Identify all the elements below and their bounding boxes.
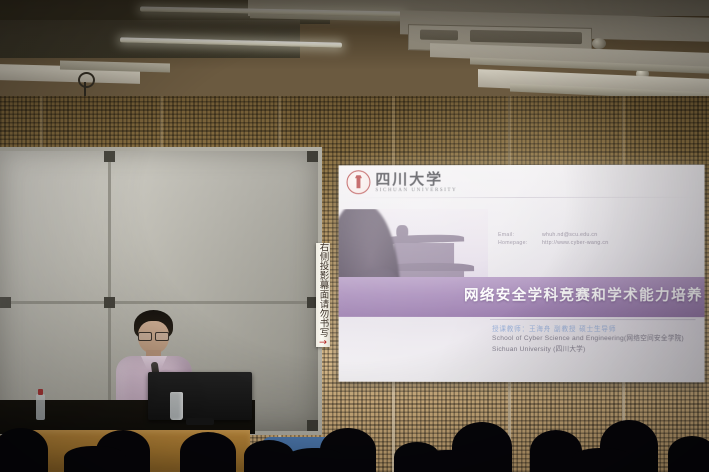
monitor-stand <box>186 418 214 425</box>
contact-block: Email: whuh.nd@scu.edu.cn Homepage: http… <box>498 231 608 247</box>
glasses-icon <box>138 332 169 339</box>
contact-label: Homepage: <box>498 239 536 247</box>
slide-title-band: 网络安全学科竞赛和学术能力培养 <box>339 277 705 317</box>
slide-footer: 授课教师：王海舟 副教授 硕士生导师 School of Cyber Scien… <box>339 317 705 382</box>
university-logo: 四川大学 SICHUAN UNIVERSITY <box>347 170 458 194</box>
projected-slide: 四川大学 SICHUAN UNIVERSITY Email: whuh.nd@s… <box>339 165 705 383</box>
contact-row-email: Email: whuh.nd@scu.edu.cn <box>498 231 608 239</box>
ceiling-spotlight <box>592 38 606 49</box>
screen-hook-icon <box>78 72 95 88</box>
lecture-hall-photo: 右侧投影幕面请勿书写→ 四川大学 SICHUAN UNIVERSITY <box>0 0 709 472</box>
presenter-monitor <box>148 372 252 420</box>
slide-title: 网络安全学科竞赛和学术能力培养 <box>464 287 703 305</box>
contact-label: Email: <box>498 231 536 239</box>
slide-presenter-line: 授课教师：王海舟 副教授 硕士生导师 <box>492 323 616 333</box>
contact-row-homepage: Homepage: http://www.cyber-wang.cn <box>498 239 608 247</box>
warning-sign-arrow: → <box>318 337 329 347</box>
slide-org-line-1: School of Cyber Science and Engineering(… <box>492 334 684 345</box>
logo-name-en: SICHUAN UNIVERSITY <box>375 188 457 193</box>
university-seal-icon <box>347 170 371 194</box>
slide-org-line-2: Sichuan University (四川大学) <box>492 344 684 355</box>
water-glass <box>170 392 183 420</box>
warning-sign-text: 右侧投影幕面请勿书写 <box>318 243 329 337</box>
water-bottle <box>36 394 45 420</box>
logo-name-cn: 四川大学 <box>375 172 457 187</box>
contact-value: whuh.nd@scu.edu.cn <box>542 231 597 239</box>
projection-warning-sign: 右侧投影幕面请勿书写→ <box>316 243 330 347</box>
contact-value: http://www.cyber-wang.cn <box>542 239 608 247</box>
